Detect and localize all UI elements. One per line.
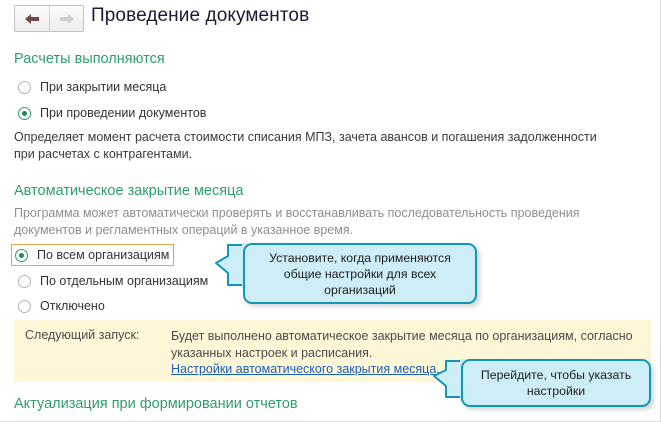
section-heading-calculations: Расчеты выполняются xyxy=(14,51,165,67)
callout-all-orgs: Установите, когда применяются общие наст… xyxy=(243,243,477,304)
back-button[interactable] xyxy=(15,6,49,31)
radio-option-disabled[interactable]: Отключено xyxy=(14,295,109,317)
navigation-buttons xyxy=(14,5,84,32)
callout-text: Установите, когда применяются общие наст… xyxy=(259,250,461,298)
next-run-label: Следующий запуск: xyxy=(25,328,139,342)
radio-option-doc-posting[interactable]: При проведении документов xyxy=(14,102,210,124)
next-run-text: Будет выполнено автоматическое закрытие … xyxy=(171,328,641,362)
settings-page: Проведение документов Расчеты выполняютс… xyxy=(0,0,661,422)
section-heading-reports-actualization: Актуализация при формировании отчетов xyxy=(14,396,298,412)
radio-option-month-close[interactable]: При закрытии месяца xyxy=(14,76,170,98)
radio-indicator xyxy=(18,81,31,94)
radio-label: По всем организациям xyxy=(37,248,169,262)
radio-option-separate-orgs[interactable]: По отдельным организациям xyxy=(14,270,212,292)
forward-button[interactable] xyxy=(49,6,83,31)
radio-option-all-orgs[interactable]: По всем организациям xyxy=(11,244,174,266)
page-title: Проведение документов xyxy=(91,5,309,27)
radio-indicator xyxy=(18,300,31,313)
radio-label: При закрытии месяца xyxy=(40,80,166,94)
arrow-right-icon xyxy=(58,13,76,25)
radio-indicator xyxy=(15,249,28,262)
callout-settings-link: Перейдите, чтобы указать настройки xyxy=(461,359,651,407)
calculations-description: Определяет момент расчета стоимости спис… xyxy=(14,129,604,163)
arrow-left-icon xyxy=(23,13,41,25)
radio-label: По отдельным организациям xyxy=(40,274,208,288)
radio-indicator xyxy=(18,275,31,288)
auto-close-settings-link[interactable]: Настройки автоматического закрытия месяц… xyxy=(171,362,440,376)
section-heading-auto-close: Автоматическое закрытие месяца xyxy=(14,183,243,199)
radio-label: При проведении документов xyxy=(40,106,206,120)
page-header: Проведение документов xyxy=(0,0,661,44)
radio-indicator xyxy=(18,107,31,120)
radio-label: Отключено xyxy=(40,299,105,313)
auto-close-description: Программа может автоматически проверять … xyxy=(14,205,629,239)
callout-text: Перейдите, чтобы указать настройки xyxy=(471,367,641,399)
